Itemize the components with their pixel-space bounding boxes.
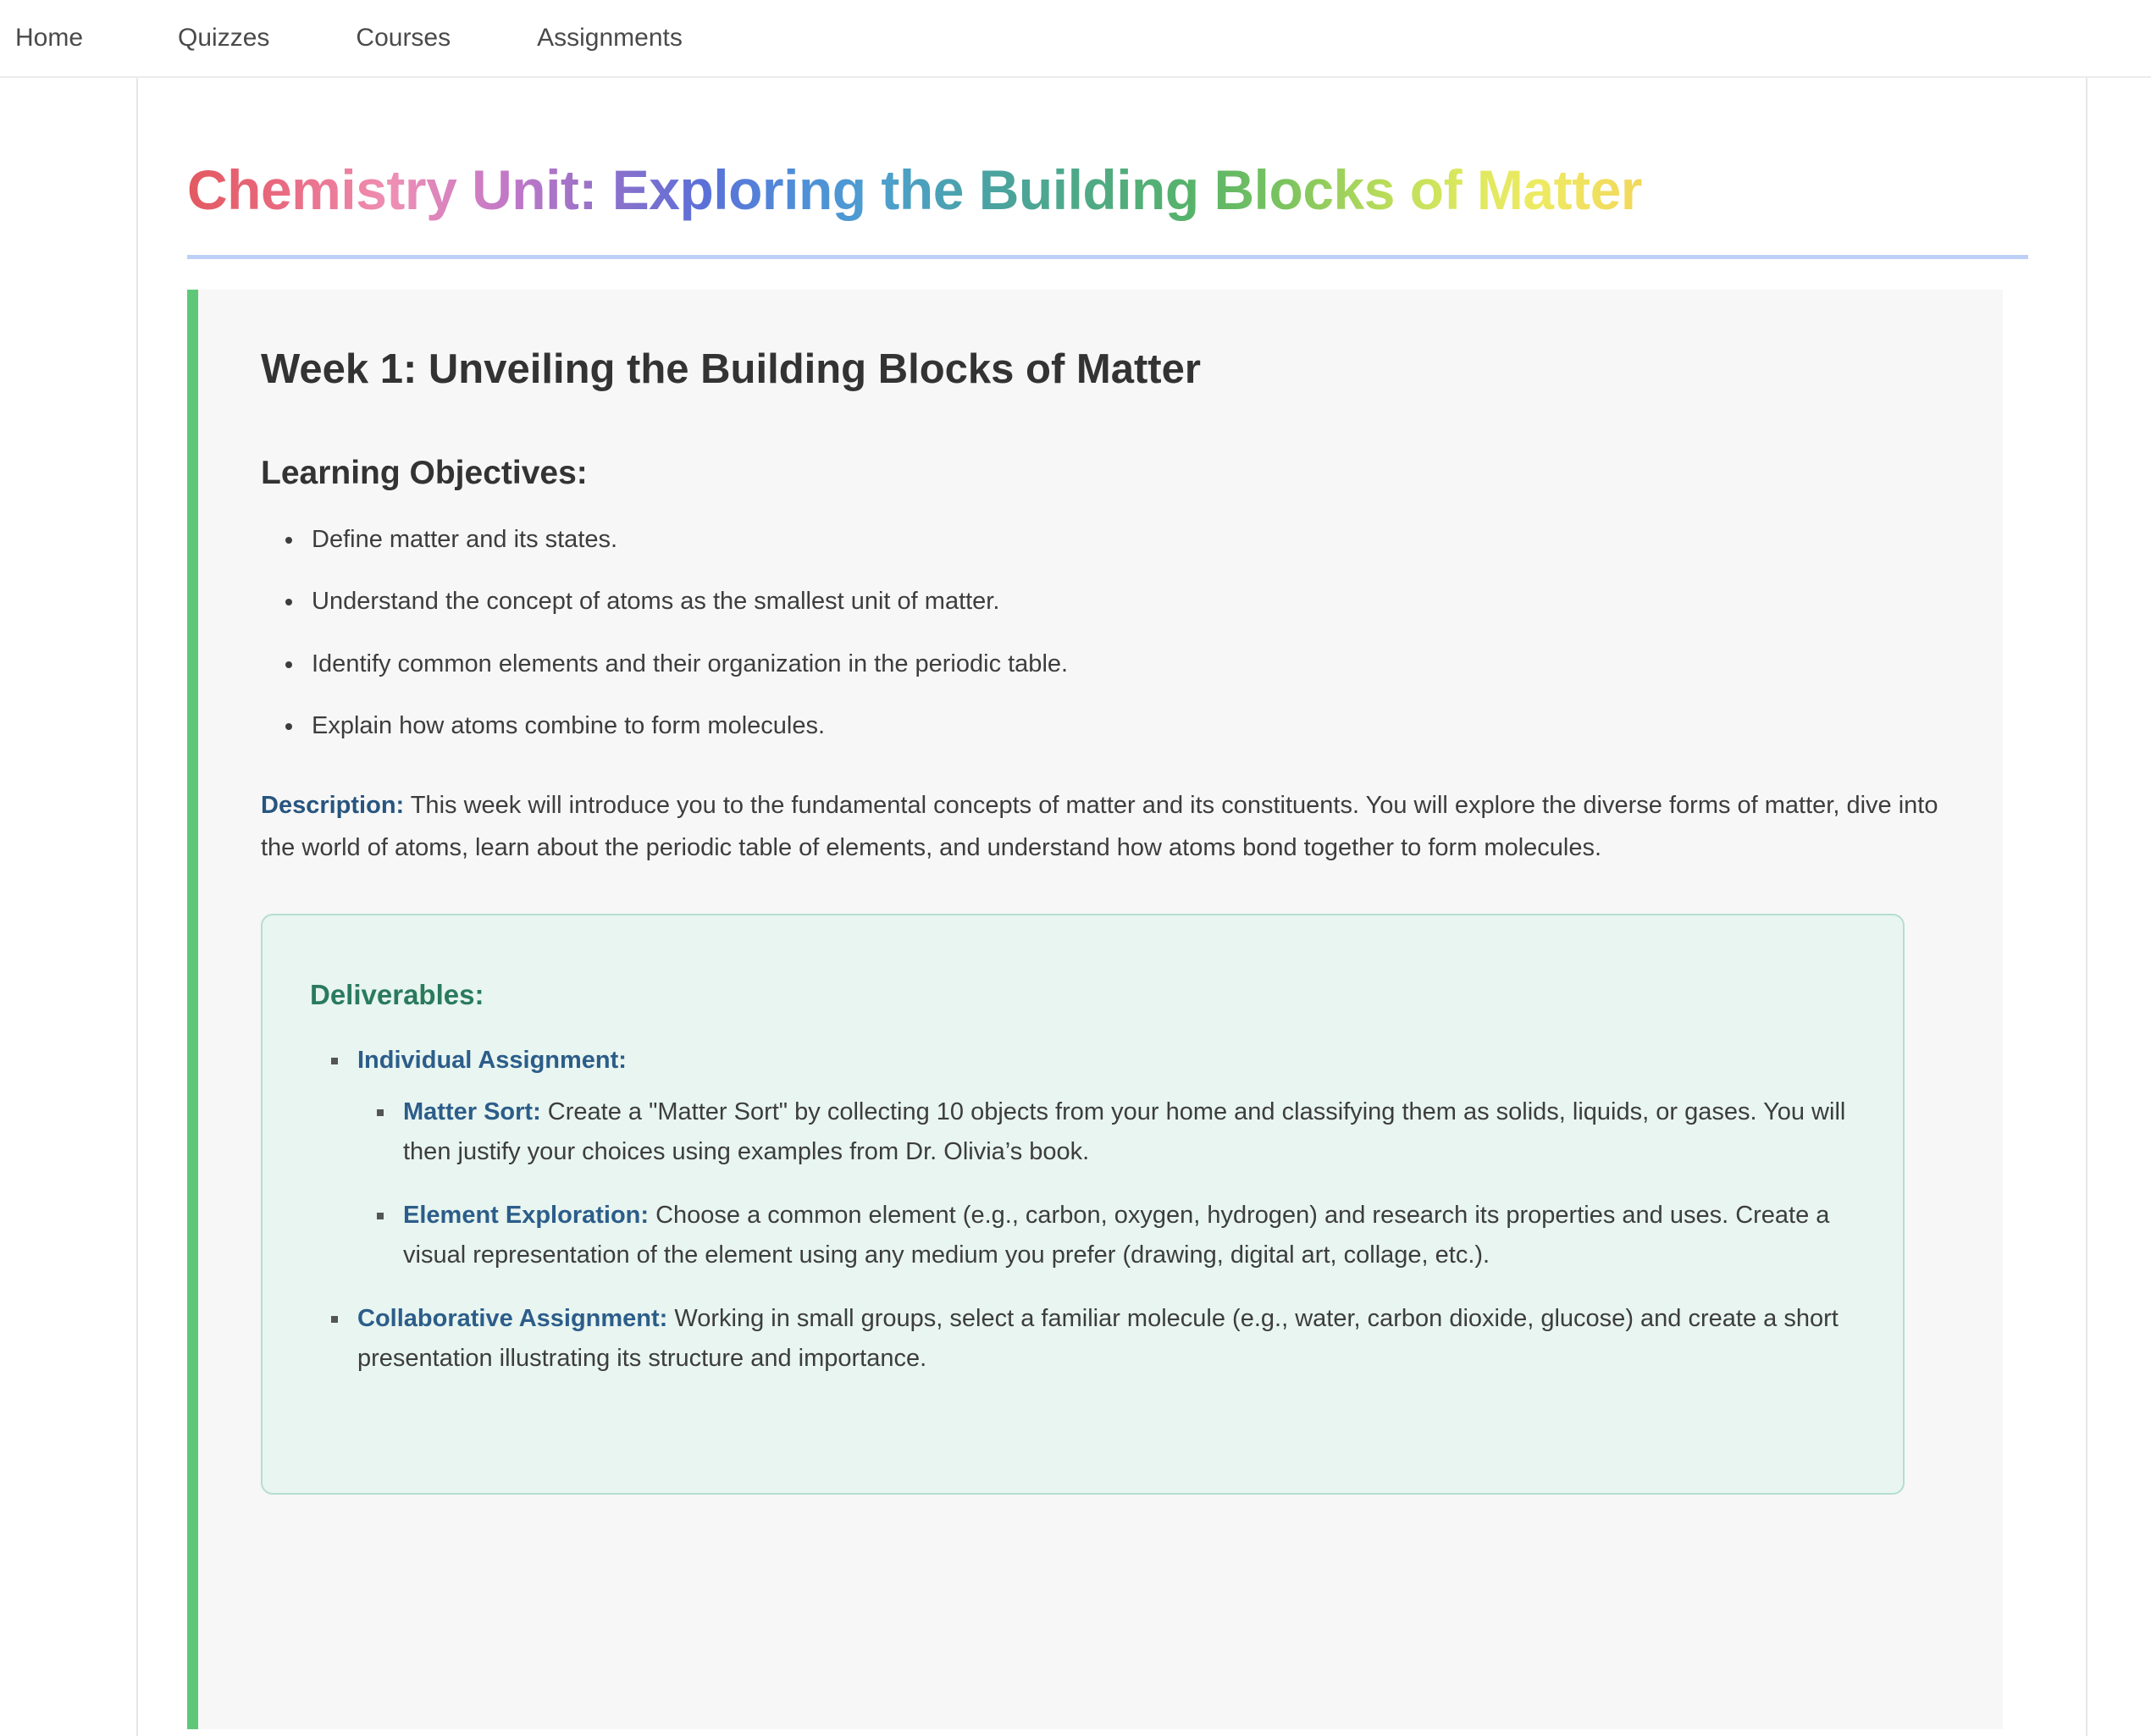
matter-sort-label: Matter Sort:: [403, 1098, 541, 1125]
individual-assignment-label: Individual Assignment:: [357, 1047, 627, 1074]
description-label: Description:: [261, 792, 404, 819]
page-body: Chemistry Unit: Exploring the Building B…: [0, 78, 2151, 1736]
list-item-collaborative-assignment: Collaborative Assignment: Working in sma…: [351, 1299, 1855, 1379]
list-item: Understand the concept of atoms as the s…: [305, 583, 1940, 621]
learning-objectives-heading: Learning Objectives:: [261, 453, 1940, 495]
top-navigation-bar: Home Quizzes Courses Assignments: [0, 0, 2151, 78]
list-item-element-exploration: Element Exploration: Choose a common ele…: [396, 1196, 1855, 1275]
element-exploration-label: Element Exploration:: [403, 1202, 649, 1229]
nav-item-assignments[interactable]: Assignments: [537, 25, 711, 51]
nav-item-home[interactable]: Home: [15, 25, 112, 51]
title-divider: [187, 255, 2028, 259]
description-paragraph: Description: This week will introduce yo…: [261, 784, 1940, 871]
left-rail: [0, 78, 138, 1736]
deliverables-heading: Deliverables:: [310, 978, 1855, 1012]
right-gutter: [2087, 78, 2151, 1736]
page-title: Chemistry Unit: Exploring the Building B…: [138, 78, 2086, 221]
list-item-individual-assignment: Individual Assignment: Matter Sort: Crea…: [351, 1041, 1855, 1275]
deliverables-list: Individual Assignment: Matter Sort: Crea…: [310, 1041, 1855, 1379]
individual-assignment-sublist: Matter Sort: Create a "Matter Sort" by c…: [357, 1092, 1855, 1275]
week-heading: Week 1: Unveiling the Building Blocks of…: [261, 344, 1940, 395]
list-item: Identify common elements and their organ…: [305, 646, 1940, 683]
nav-item-quizzes[interactable]: Quizzes: [178, 25, 298, 51]
list-item: Explain how atoms combine to form molecu…: [305, 708, 1940, 745]
nav-item-courses[interactable]: Courses: [356, 25, 479, 51]
content-pane: Chemistry Unit: Exploring the Building B…: [138, 78, 2087, 1736]
learning-objectives-list: Define matter and its states. Understand…: [261, 522, 1940, 745]
description-body: This week will introduce you to the fund…: [261, 792, 1938, 862]
list-item: Define matter and its states.: [305, 522, 1940, 559]
collaborative-assignment-label: Collaborative Assignment:: [357, 1305, 667, 1332]
deliverables-callout: Deliverables: Individual Assignment: Mat…: [261, 914, 1905, 1495]
matter-sort-text: Create a "Matter Sort" by collecting 10 …: [403, 1098, 1845, 1165]
week-card: Week 1: Unveiling the Building Blocks of…: [187, 290, 2003, 1729]
list-item-matter-sort: Matter Sort: Create a "Matter Sort" by c…: [396, 1092, 1855, 1172]
